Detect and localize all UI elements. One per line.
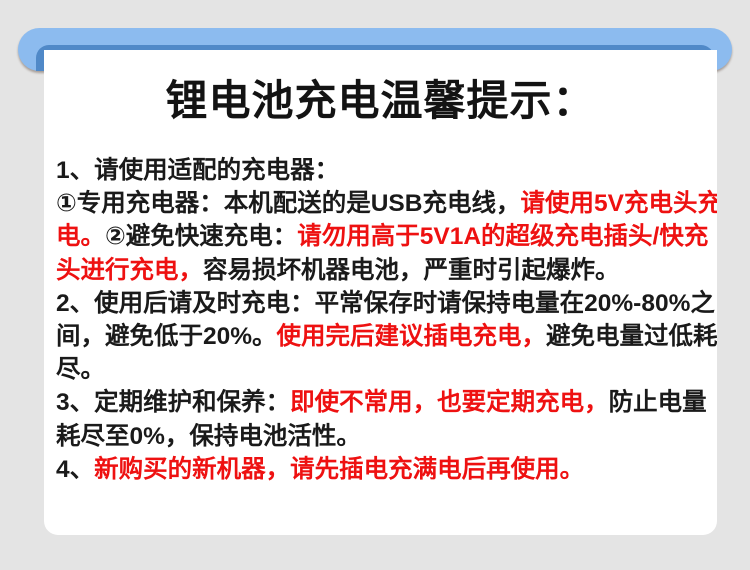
line-2-segment-1: ①专用充电器：本机配送的是USB充电线，: [56, 190, 520, 217]
line-8-segment-2-highlight: 即使不常用，也要定期充电，: [290, 389, 609, 416]
notice-card: 锂电池充电温馨提示： 1、请使用适配的充电器： ①专用充电器：本机配送的是USB…: [44, 50, 717, 535]
line-3-segment-3-highlight: 请勿用高于5V1A的超级充电插头/快充: [297, 223, 708, 250]
line-10-segment-1: 4、: [56, 456, 94, 483]
poster-root: 锂电池充电温馨提示： 1、请使用适配的充电器： ①专用充电器：本机配送的是USB…: [0, 0, 750, 570]
line-4-segment-1-highlight: 头进行充电，: [56, 257, 203, 284]
text-line-9: 耗尽至0%，保持电池活性。: [56, 420, 708, 453]
page-title: 锂电池充电温馨提示：: [44, 80, 717, 122]
text-line-10: 4、新购买的新机器，请先插电充满电后再使用。: [56, 453, 708, 486]
line-6-segment-2-highlight: 使用完后建议插电充电，: [277, 323, 547, 350]
text-line-4: 头进行充电，容易损坏机器电池，严重时引起爆炸。: [56, 254, 708, 287]
line-9-segment-1: 耗尽至0%，保持电池活性。: [56, 423, 361, 450]
line-10-segment-2-highlight: 新购买的新机器，请先插电充满电后再使用。: [94, 456, 584, 483]
text-line-5: 2、使用后请及时充电：平常保存时请保持电量在20%-80%之: [56, 287, 708, 320]
text-line-7: 尽。: [56, 353, 708, 386]
text-line-2: ①专用充电器：本机配送的是USB充电线，请使用5V充电头充: [56, 187, 708, 220]
line-7-segment-1: 尽。: [56, 356, 105, 383]
line-8-segment-1: 3、定期维护和保养：: [56, 389, 290, 416]
line-1-segment-1: 1、请使用适配的充电器：: [56, 157, 339, 184]
line-3-segment-2: ②避免快速充电：: [105, 223, 297, 250]
text-line-3: 电。②避免快速充电：请勿用高于5V1A的超级充电插头/快充: [56, 220, 708, 253]
line-5-segment-1: 2、使用后请及时充电：平常保存时请保持电量在20%-80%之: [56, 290, 715, 317]
line-3-segment-1-highlight: 电。: [56, 223, 105, 250]
line-6-segment-1: 间，避免低于20%。: [56, 323, 277, 350]
notice-body: 1、请使用适配的充电器： ①专用充电器：本机配送的是USB充电线，请使用5V充电…: [56, 154, 708, 486]
text-line-8: 3、定期维护和保养：即使不常用，也要定期充电，防止电量: [56, 386, 708, 419]
line-6-segment-3: 避免电量过低耗: [546, 323, 717, 350]
line-2-segment-2-highlight: 请使用5V充电头充: [520, 190, 717, 217]
line-8-segment-3: 防止电量: [609, 389, 707, 416]
text-line-1: 1、请使用适配的充电器：: [56, 154, 708, 187]
text-line-6: 间，避免低于20%。使用完后建议插电充电，避免电量过低耗: [56, 320, 708, 353]
line-4-segment-2: 容易损坏机器电池，严重时引起爆炸。: [203, 257, 620, 284]
